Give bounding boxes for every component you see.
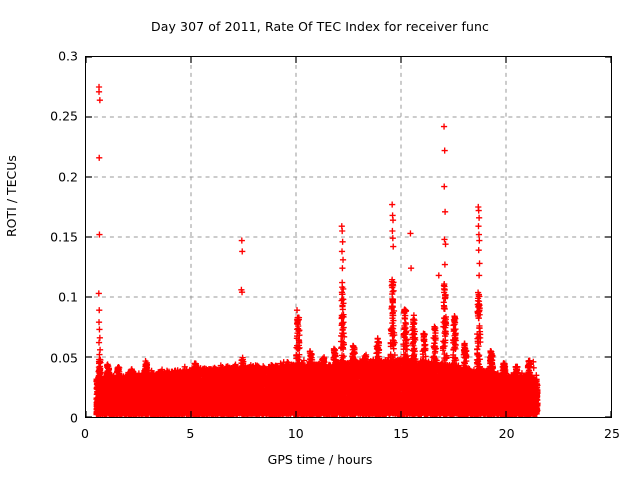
plot-area [85,56,612,418]
chart-figure: Day 307 of 2011, Rate Of TEC Index for r… [0,0,640,480]
y-tick-label: 0.2 [20,169,78,184]
x-tick-label: 20 [499,426,515,441]
y-tick-label: 0.15 [20,230,78,245]
y-tick-label: 0.1 [20,290,78,305]
x-tick-label: 25 [604,426,620,441]
x-tick-label: 10 [288,426,304,441]
y-tick-label: 0.25 [20,109,78,124]
x-tick-label: 0 [81,426,89,441]
x-tick-label: 5 [186,426,194,441]
x-axis-label: GPS time / hours [0,452,640,467]
y-tick-label: 0 [20,411,78,426]
chart-title: Day 307 of 2011, Rate Of TEC Index for r… [0,19,640,34]
x-tick-label: 15 [393,426,409,441]
y-axis-label: ROTI / TECUs [4,155,19,237]
axis-tick-marks [86,57,611,417]
y-tick-label: 0.3 [20,49,78,64]
y-tick-label: 0.05 [20,350,78,365]
